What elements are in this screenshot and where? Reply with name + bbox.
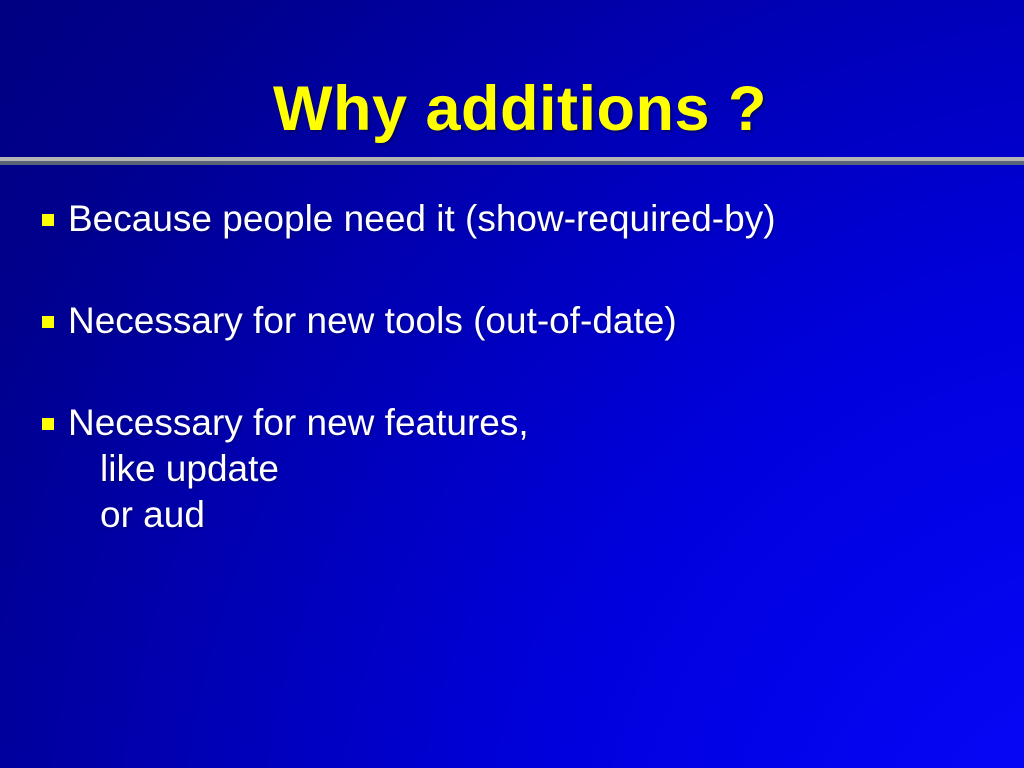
slide-body: Because people need it (show-required-by… — [42, 196, 982, 538]
bullet-row: Because people need it (show-required-by… — [42, 196, 982, 242]
square-bullet-icon — [42, 214, 54, 226]
bullet-continuation-line: like update — [100, 446, 982, 492]
bullet-text: Because people need it (show-required-by… — [68, 196, 776, 242]
bullet-continuation-line: or aud — [100, 492, 982, 538]
square-bullet-icon — [42, 418, 54, 430]
slide-title-area: Why additions ? — [0, 68, 1024, 150]
list-item: Because people need it (show-required-by… — [42, 196, 982, 242]
square-bullet-icon — [42, 316, 54, 328]
bullet-row: Necessary for new features, — [42, 400, 982, 446]
list-item: Necessary for new tools (out-of-date) — [42, 298, 982, 344]
bullet-row: Necessary for new tools (out-of-date) — [42, 298, 982, 344]
bullet-text: Necessary for new tools (out-of-date) — [68, 298, 677, 344]
list-item: Necessary for new features, like update … — [42, 400, 982, 538]
bullet-text: Necessary for new features, — [68, 400, 529, 446]
presentation-slide: Why additions ? Because people need it (… — [0, 0, 1024, 768]
title-divider — [0, 157, 1024, 165]
page-title: Why additions ? — [257, 78, 767, 141]
divider-shadow-line — [0, 161, 1024, 165]
